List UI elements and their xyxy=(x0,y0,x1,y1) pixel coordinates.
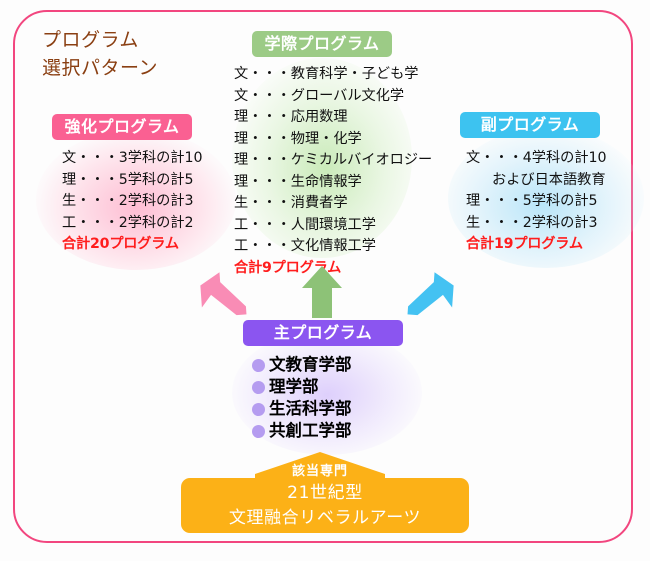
panel-header-interdisciplinary: 学際プログラム xyxy=(252,31,392,57)
list-item: 文・・・4学科の計10 xyxy=(466,148,607,170)
bullet-dot-icon xyxy=(252,381,265,394)
bullet-dot-icon xyxy=(252,425,265,438)
list-item: 工・・・人間環境工学 xyxy=(234,215,432,237)
list-item: 生・・・2学科の計3 xyxy=(62,191,203,213)
page-title: プログラム 選択パターン xyxy=(42,26,158,82)
list-item-label: 理学部 xyxy=(269,376,319,398)
list-item: 生・・・消費者学 xyxy=(234,193,432,215)
list-item-label: 生活科学部 xyxy=(269,398,352,420)
bullet-dot-icon xyxy=(252,359,265,372)
panel-header-enhanced: 強化プログラム xyxy=(52,114,192,140)
list-item: 生・・・2学科の計3 xyxy=(466,213,607,235)
arrow-up-icon xyxy=(300,264,344,320)
list-item: 工・・・文化情報工学 xyxy=(234,236,432,258)
arrow-up-right-icon xyxy=(405,268,457,320)
list-item: 工・・・2学科の計2 xyxy=(62,213,203,235)
list-item: 理・・・5学科の計5 xyxy=(62,170,203,192)
bullet-dot-icon xyxy=(252,403,265,416)
list-item: 共創工学部 xyxy=(252,420,352,442)
list-item: 理・・・ケミカルバイオロジー xyxy=(234,150,432,172)
list-item: 文・・・3学科の計10 xyxy=(62,148,203,170)
list-item: 生活科学部 xyxy=(252,398,352,420)
list-total-sub: 合計19プログラム xyxy=(466,234,607,256)
list-total-enhanced: 合計20プログラム xyxy=(62,234,203,256)
list-item: 理・・・応用数理 xyxy=(234,107,432,129)
list-item: 理・・・物理・化学 xyxy=(234,129,432,151)
list-item: 文・・・グローバル文化学 xyxy=(234,86,432,108)
diagram-canvas: プログラム 選択パターン 強化プログラム 文・・・3学科の計10 理・・・5学科… xyxy=(0,0,650,561)
list-item: 理・・・5学科の計5 xyxy=(466,191,607,213)
arrow-label-foundation: 該当専門 xyxy=(255,460,385,479)
panel-header-sub: 副プログラム xyxy=(460,112,600,138)
list-item: 文・・・教育科学・子ども学 xyxy=(234,64,432,86)
panel-list-interdisciplinary: 文・・・教育科学・子ども学 文・・・グローバル文化学 理・・・応用数理 理・・・… xyxy=(234,64,432,279)
list-item-label: 共創工学部 xyxy=(269,420,352,442)
list-item: 理学部 xyxy=(252,376,352,398)
arrow-up-left-icon xyxy=(197,268,249,320)
list-item: 文教育学部 xyxy=(252,354,352,376)
foundation-box: 21世紀型 文理融合リベラルアーツ xyxy=(181,478,469,533)
list-item: 理・・・生命情報学 xyxy=(234,172,432,194)
panel-list-main: 文教育学部 理学部 生活科学部 共創工学部 xyxy=(252,354,352,442)
list-item: および日本語教育 xyxy=(466,170,607,192)
panel-header-main: 主プログラム xyxy=(243,320,403,346)
panel-list-enhanced: 文・・・3学科の計10 理・・・5学科の計5 生・・・2学科の計3 工・・・2学… xyxy=(62,148,203,256)
panel-list-sub: 文・・・4学科の計10 および日本語教育 理・・・5学科の計5 生・・・2学科の… xyxy=(466,148,607,256)
list-item-label: 文教育学部 xyxy=(269,354,352,376)
